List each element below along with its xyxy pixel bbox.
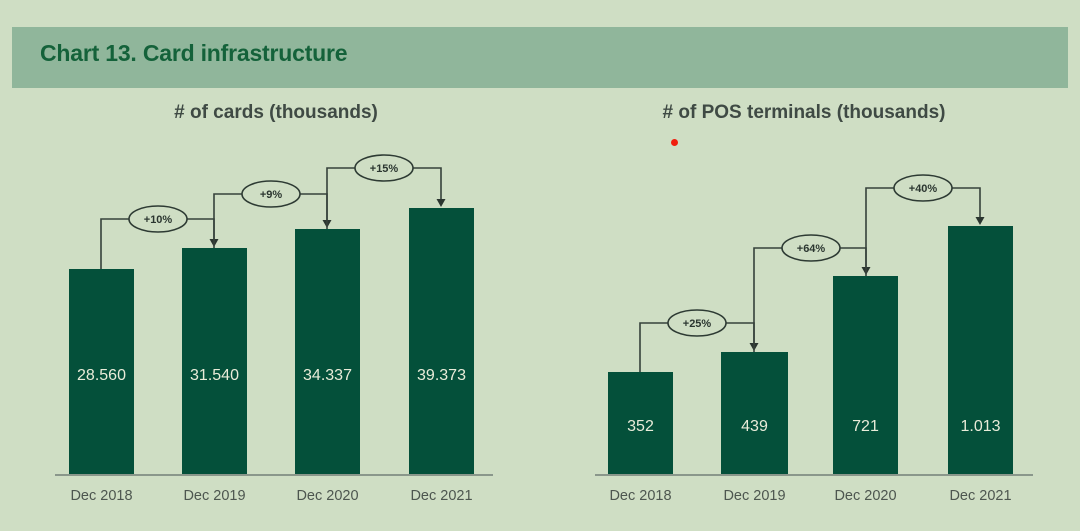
x-tick-label-cards-1: Dec 2019: [152, 488, 277, 504]
bar-pos-1[interactable]: [721, 352, 788, 474]
page-title: Chart 13. Card infrastructure: [40, 40, 347, 67]
growth-label: +40%: [909, 183, 938, 195]
bar-value-label-cards-3: 39.373: [391, 367, 492, 385]
bar-value-label-pos-3: 1.013: [930, 418, 1031, 436]
arrowhead-icon: [437, 199, 446, 207]
plot-area-cards: 28.560Dec 201831.540Dec 201934.337Dec 20…: [12, 88, 540, 531]
bar-value-label-cards-1: 31.540: [164, 367, 265, 385]
slide-canvas: Chart 13. Card infrastructure # of cards…: [0, 0, 1080, 531]
growth-label: +25%: [683, 318, 712, 330]
bar-value-label-cards-0: 28.560: [51, 367, 152, 385]
growth-bubble: [129, 206, 187, 232]
x-tick-label-pos-3: Dec 2021: [918, 488, 1043, 504]
bar-pos-2[interactable]: [833, 276, 898, 474]
chart-panel-cards: # of cards (thousands) 28.560Dec 201831.…: [12, 88, 540, 531]
growth-label: +10%: [144, 214, 173, 226]
bar-cards-3[interactable]: [409, 208, 474, 474]
growth-bubble: [668, 310, 726, 336]
red-dot-icon: [671, 139, 678, 146]
x-tick-label-pos-1: Dec 2019: [691, 488, 818, 504]
growth-bubble: [355, 155, 413, 181]
x-tick-label-cards-3: Dec 2021: [379, 488, 504, 504]
plot-area-pos: 352Dec 2018439Dec 2019721Dec 20201.013De…: [540, 88, 1068, 531]
growth-label: +9%: [260, 189, 283, 201]
bar-value-label-pos-0: 352: [590, 418, 691, 436]
bar-pos-3[interactable]: [948, 226, 1013, 474]
x-tick-label-cards-2: Dec 2020: [265, 488, 390, 504]
growth-bubble: [242, 181, 300, 207]
arrowhead-icon: [750, 343, 759, 351]
arrowhead-icon: [323, 220, 332, 228]
x-axis-line: [55, 474, 493, 476]
chart-panel-pos: # of POS terminals (thousands) 352Dec 20…: [540, 88, 1068, 531]
bar-value-label-pos-2: 721: [815, 418, 916, 436]
growth-bubble: [894, 175, 952, 201]
bar-cards-2[interactable]: [295, 229, 360, 474]
arrowhead-icon: [210, 239, 219, 247]
arrowhead-icon: [976, 217, 985, 225]
x-tick-label-pos-0: Dec 2018: [578, 488, 703, 504]
bar-value-label-pos-1: 439: [703, 418, 806, 436]
growth-label: +15%: [370, 163, 399, 175]
bar-cards-1[interactable]: [182, 248, 247, 474]
growth-bubble: [782, 235, 840, 261]
x-axis-line: [595, 474, 1033, 476]
arrowhead-icon: [862, 267, 871, 275]
x-tick-label-cards-0: Dec 2018: [39, 488, 164, 504]
growth-label: +64%: [797, 243, 826, 255]
x-tick-label-pos-2: Dec 2020: [803, 488, 928, 504]
bar-value-label-cards-2: 34.337: [277, 367, 378, 385]
